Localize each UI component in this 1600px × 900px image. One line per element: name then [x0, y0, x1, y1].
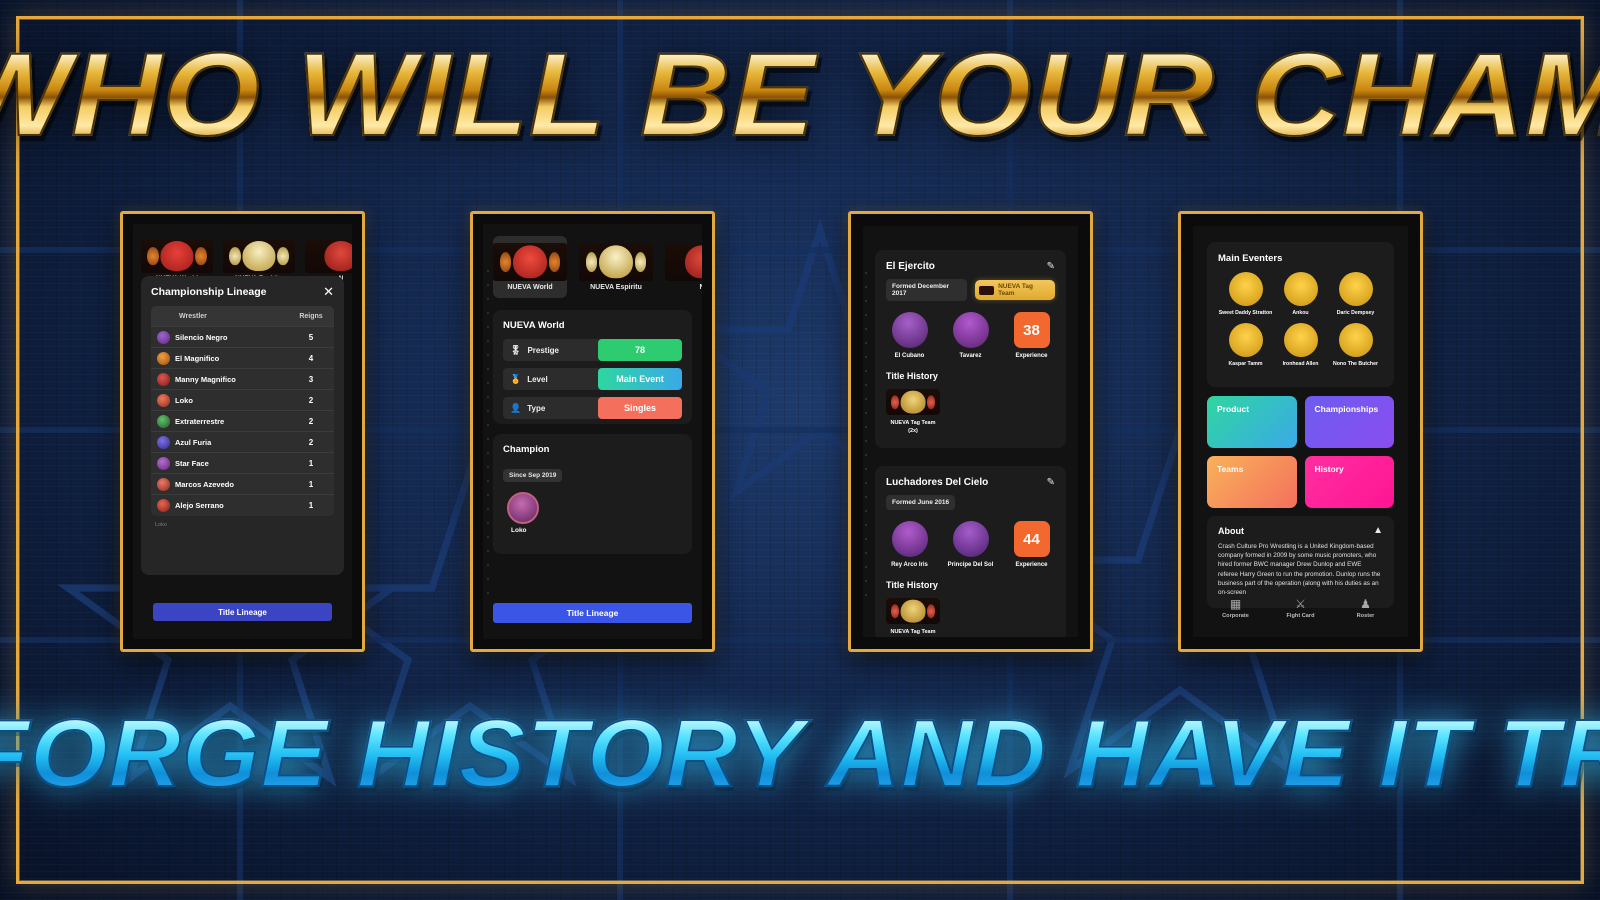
main-eventers-card: Main Eventers Sweet Daddy Stratton Ankou…	[1207, 242, 1394, 387]
fight-card-icon: ⚔	[1295, 598, 1306, 610]
headline-top: WHO WILL BE YOUR CHAMPION?	[0, 36, 1600, 154]
modal-footnote: Loko	[151, 516, 334, 528]
team-experience: 38 Experience	[1008, 312, 1055, 359]
phone-screen-1: NUEVA World NUEVA Espiritu	[133, 224, 352, 639]
experience-value: 44	[1014, 521, 1050, 557]
team-member[interactable]: Tavarez	[947, 312, 994, 359]
about-title: About	[1218, 526, 1244, 536]
experience-label: Experience	[1015, 353, 1047, 359]
title-history-item[interactable]: NUEVA Tag Team(2x)	[886, 389, 940, 435]
reigns-count: 1	[294, 501, 328, 510]
stat-value: Singles	[598, 397, 682, 419]
list-item[interactable]: Ankou	[1273, 272, 1328, 316]
stat-row-prestige[interactable]: 🎖Prestige 78	[503, 339, 682, 361]
title-lineage-button[interactable]: Title Lineage	[153, 603, 332, 621]
table-row[interactable]: Manny Magnifico 3	[151, 369, 334, 390]
member-name: Tavarez	[960, 353, 982, 359]
about-body: Crash Culture Pro Wrestling is a United …	[1218, 542, 1383, 597]
table-row[interactable]: Silencio Negro 5	[151, 327, 334, 348]
wrestler-name: Loko	[175, 396, 193, 405]
champion-name: Loko	[511, 527, 682, 534]
column-header-reigns: Reigns	[294, 313, 328, 320]
modal-header: Championship Lineage ✕	[151, 286, 334, 298]
table-row[interactable]: Extraterrestre 2	[151, 411, 334, 432]
table-row[interactable]: Marcos Azevedo 1	[151, 474, 334, 495]
nav-tile-grid: Product Championships Teams History	[1207, 396, 1394, 508]
member-name: El Cubano	[895, 353, 925, 359]
belt-image-icon	[141, 239, 213, 273]
avatar	[157, 331, 170, 344]
belt-image-icon	[886, 389, 940, 415]
avatar	[892, 312, 928, 348]
avatar	[157, 394, 170, 407]
avatar	[892, 521, 928, 557]
level-icon: 🏅	[510, 374, 521, 385]
edge-dots	[863, 266, 869, 597]
main-eventers-title: Main Eventers	[1218, 253, 1383, 264]
avatar	[1229, 323, 1263, 357]
wrestler-name: Manny Magnifico	[175, 375, 236, 384]
person-icon: 👤	[510, 403, 521, 414]
avatar	[157, 436, 170, 449]
tab-label: Roster	[1357, 613, 1375, 619]
avatar	[157, 478, 170, 491]
list-item[interactable]: Nono The Butcher	[1328, 323, 1383, 367]
member-name: Rey Arco Iris	[891, 562, 928, 568]
title-name: NUEVA World	[503, 320, 682, 331]
reigns-count: 2	[294, 396, 328, 405]
team-formed-badge: Formed June 2016	[886, 495, 955, 510]
phone-screen-4: Main Eventers Sweet Daddy Stratton Ankou…	[1193, 226, 1408, 637]
stat-label: Level	[527, 375, 547, 384]
wrestler-name: Sweet Daddy Stratton	[1219, 310, 1273, 316]
reigns-count: 2	[294, 438, 328, 447]
screenshot-panel-title-detail: NUEVA World NUEVA Espiritu	[470, 211, 715, 652]
phone-screen-3: El Ejercito ✎ Formed December 2017 NUEVA…	[863, 226, 1078, 637]
wrestler-name: El Magnifico	[175, 354, 219, 363]
wrestler-name: Kaspar Tamm	[1229, 361, 1263, 367]
close-icon[interactable]: ✕	[323, 287, 334, 297]
team-name: El Ejercito	[886, 261, 935, 272]
modal-title: Championship Lineage	[151, 286, 267, 298]
table-row[interactable]: Loko 2	[151, 390, 334, 411]
tab-label: Fight Card	[1287, 613, 1315, 619]
avatar	[1339, 323, 1373, 357]
belt-tab-nueva-world[interactable]: NUEVA World	[493, 236, 567, 298]
medal-icon: 🎖	[510, 345, 521, 356]
stat-label: Prestige	[527, 346, 559, 355]
tile-label: Championships	[1315, 404, 1379, 414]
avatar	[1284, 272, 1318, 306]
table-row[interactable]: Star Face 1	[151, 453, 334, 474]
avatar	[157, 352, 170, 365]
belt-tab-strip-2[interactable]: NUEVA World NUEVA Espiritu	[493, 236, 702, 298]
wrestler-name: Silencio Negro	[175, 333, 228, 342]
list-item[interactable]: Sweet Daddy Stratton	[1218, 272, 1273, 316]
stat-row-type[interactable]: 👤Type Singles	[503, 397, 682, 419]
table-row[interactable]: Alejo Serrano 1	[151, 495, 334, 516]
reigns-count: 5	[294, 333, 328, 342]
team-title-chip[interactable]: NUEVA Tag Team	[975, 280, 1055, 300]
tab-fight-card[interactable]: ⚔ Fight Card	[1268, 591, 1333, 625]
title-history-heading: Title History	[886, 580, 1055, 590]
stat-value: Main Event	[598, 368, 682, 390]
reigns-count: 1	[294, 459, 328, 468]
belt-tab-nueva-espiritu[interactable]: NUEVA Espiritu	[579, 236, 653, 298]
stat-label: Type	[527, 404, 545, 413]
tile-championships[interactable]: Championships	[1305, 396, 1395, 448]
belt-image-icon	[223, 239, 295, 273]
promo-graphic: WHO WILL BE YOUR CHAMPION? FORGE HISTORY…	[0, 0, 1600, 900]
bottom-tab-bar: ▦ Corporate ⚔ Fight Card ♟ Roster	[1203, 591, 1398, 625]
roster-icon: ♟	[1360, 598, 1371, 610]
tile-teams[interactable]: Teams	[1207, 456, 1297, 508]
pencil-icon[interactable]: ✎	[1047, 477, 1055, 488]
corporate-icon: ▦	[1230, 598, 1241, 610]
table-row[interactable]: Azul Furia 2	[151, 432, 334, 453]
tile-label: History	[1315, 464, 1344, 474]
history-label: NUEVA Tag Team	[890, 420, 935, 426]
wrestler-name: Star Face	[175, 459, 209, 468]
belt-image-icon	[493, 243, 567, 281]
belt-image-icon	[305, 239, 352, 273]
table-header-row: Wrestler Reigns	[151, 306, 334, 327]
team-formed-badge: Formed December 2017	[886, 279, 967, 301]
champion-card: Champion Since Sep 2019 Loko	[493, 434, 692, 554]
screenshot-panel-company: Main Eventers Sweet Daddy Stratton Ankou…	[1178, 211, 1423, 652]
title-stats-card: NUEVA World 🎖Prestige 78 🏅Level Main Eve…	[493, 310, 692, 424]
table-row[interactable]: El Magnifico 4	[151, 348, 334, 369]
team-experience: 44 Experience	[1008, 521, 1055, 568]
main-eventers-grid: Sweet Daddy Stratton Ankou Daric Dempsey…	[1218, 272, 1383, 367]
belt-image-icon	[579, 243, 653, 281]
edge-dots	[485, 264, 491, 599]
tab-roster[interactable]: ♟ Roster	[1333, 591, 1398, 625]
avatar	[157, 499, 170, 512]
team-card-luchadores-del-cielo: Luchadores Del Cielo ✎ Formed June 2016 …	[875, 466, 1066, 637]
screenshot-panel-teams: El Ejercito ✎ Formed December 2017 NUEVA…	[848, 211, 1093, 652]
avatar	[1284, 323, 1318, 357]
wrestler-name: Ironhead Allen	[1283, 361, 1319, 367]
pencil-icon[interactable]: ✎	[1047, 261, 1055, 272]
tile-label: Product	[1217, 404, 1249, 414]
team-title-chip-label: NUEVA Tag Team	[998, 283, 1048, 297]
belt-icon	[979, 286, 994, 295]
wrestler-name: Ankou	[1292, 310, 1308, 316]
wrestler-name: Alejo Serrano	[175, 501, 224, 510]
avatar	[157, 373, 170, 386]
tab-corporate[interactable]: ▦ Corporate	[1203, 591, 1268, 625]
experience-value: 38	[1014, 312, 1050, 348]
list-item[interactable]: Ironhead Allen	[1273, 323, 1328, 367]
history-label: NUEVA Tag Team	[890, 629, 935, 635]
stat-row-level[interactable]: 🏅Level Main Event	[503, 368, 682, 390]
member-name: Principe Del Sol	[948, 562, 994, 568]
belt-tab-label: N	[699, 284, 702, 291]
belt-tab-label: NUEVA World	[507, 284, 552, 291]
list-item[interactable]: Kaspar Tamm	[1218, 323, 1273, 367]
reigns-count: 2	[294, 417, 328, 426]
reigns-count: 4	[294, 354, 328, 363]
avatar	[953, 312, 989, 348]
belt-tab-label: NUEVA Espiritu	[590, 284, 642, 291]
phone-screen-2: NUEVA World NUEVA Espiritu	[483, 224, 702, 639]
avatar	[1229, 272, 1263, 306]
wrestler-name: Daric Dempsey	[1337, 310, 1375, 316]
headline-bottom: FORGE HISTORY AND HAVE IT TRACKED	[0, 706, 1600, 802]
avatar	[157, 415, 170, 428]
champion-since-badge: Since Sep 2019	[503, 469, 562, 482]
avatar	[1339, 272, 1373, 306]
list-item[interactable]: Daric Dempsey	[1328, 272, 1383, 316]
wrestler-name: Nono The Butcher	[1333, 361, 1378, 367]
history-count: (2x)	[908, 428, 918, 434]
stat-value: 78	[598, 339, 682, 361]
wrestler-name: Extraterrestre	[175, 417, 224, 426]
wrestler-name: Marcos Azevedo	[175, 480, 234, 489]
avatar	[953, 521, 989, 557]
champion-title: Champion	[503, 444, 682, 455]
tile-product[interactable]: Product	[1207, 396, 1297, 448]
reigns-count: 3	[294, 375, 328, 384]
experience-label: Experience	[1015, 562, 1047, 568]
belt-tab-partial[interactable]: N	[665, 236, 702, 298]
title-history-item[interactable]: NUEVA Tag Team(1x)	[886, 598, 940, 637]
team-name: Luchadores Del Cielo	[886, 477, 988, 488]
team-member[interactable]: Rey Arco Iris	[886, 521, 933, 568]
team-card-el-ejercito: El Ejercito ✎ Formed December 2017 NUEVA…	[875, 250, 1066, 448]
belt-image-icon	[886, 598, 940, 624]
belt-image-icon	[665, 243, 702, 281]
title-lineage-button[interactable]: Title Lineage	[493, 603, 692, 623]
tile-label: Teams	[1217, 464, 1243, 474]
championship-lineage-modal: Championship Lineage ✕ Wrestler Reigns S…	[141, 276, 344, 575]
tile-history[interactable]: History	[1305, 456, 1395, 508]
champion-avatar[interactable]	[507, 492, 539, 524]
chevron-up-icon[interactable]: ▲	[1373, 525, 1383, 536]
team-member[interactable]: Principe Del Sol	[947, 521, 994, 568]
lineage-table: Wrestler Reigns Silencio Negro 5 El Magn…	[151, 306, 334, 516]
wrestler-name: Azul Furia	[175, 438, 211, 447]
reigns-count: 1	[294, 480, 328, 489]
screenshot-panel-lineage: NUEVA World NUEVA Espiritu	[120, 211, 365, 652]
title-history-heading: Title History	[886, 371, 1055, 381]
team-member[interactable]: El Cubano	[886, 312, 933, 359]
tab-label: Corporate	[1222, 613, 1249, 619]
column-header-wrestler: Wrestler	[157, 313, 294, 320]
avatar	[157, 457, 170, 470]
